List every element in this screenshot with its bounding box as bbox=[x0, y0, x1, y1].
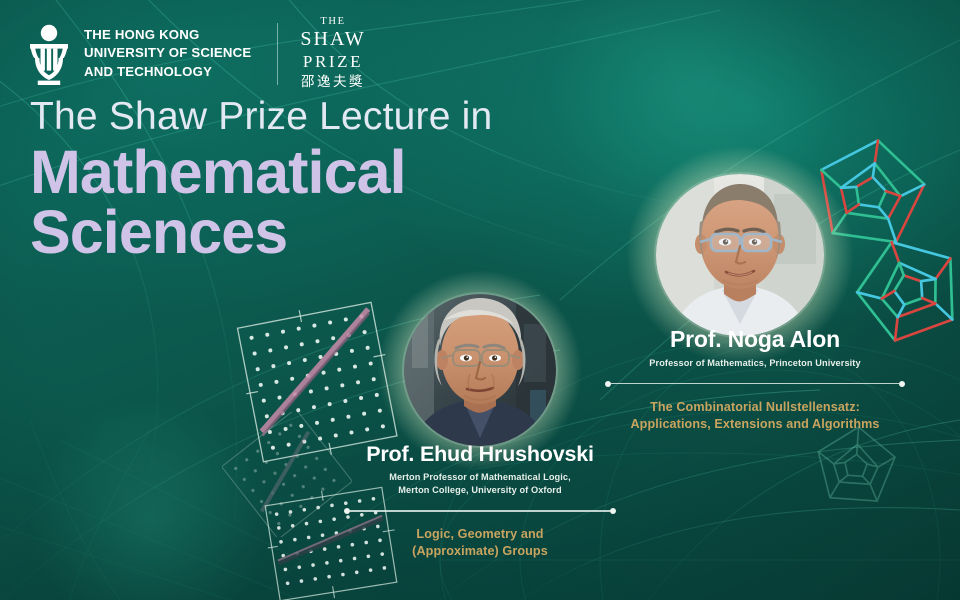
hkust-emblem-icon bbox=[26, 22, 72, 86]
lecture-topic-noga-alon: The Combinatorial Nullstellensatz: Appli… bbox=[585, 399, 925, 432]
speaker-affiliation-noga-alon: Professor of Mathematics, Princeton Univ… bbox=[585, 357, 925, 370]
logo-header: THE HONG KONG UNIVERSITY OF SCIENCE AND … bbox=[26, 16, 366, 91]
title-line-2: Mathematical bbox=[30, 143, 492, 203]
page-title: The Shaw Prize Lecture in Mathematical S… bbox=[30, 96, 492, 263]
speaker-block-ehud-hrushovski: Prof. Ehud Hrushovski Merton Professor o… bbox=[325, 442, 635, 559]
lecture-topic-ehud-hrushovski: Logic, Geometry and (Approximate) Groups bbox=[325, 526, 635, 559]
shaw-chinese: 邵逸夫獎 bbox=[300, 73, 365, 91]
portrait-noga-alon bbox=[640, 160, 840, 350]
portrait-image-noga-alon bbox=[656, 174, 824, 336]
noga-alon-photo bbox=[656, 174, 824, 336]
speaker-divider-rule bbox=[605, 379, 905, 388]
speaker-affiliation-ehud-hrushovski: Merton Professor of Mathematical Logic, … bbox=[325, 471, 635, 497]
rule-dot-right bbox=[899, 381, 905, 387]
shaw-shaw: SHAW bbox=[300, 28, 365, 52]
rule-bar bbox=[611, 383, 899, 384]
portrait-ehud-hrushovski bbox=[390, 282, 570, 458]
hkust-wordmark: THE HONG KONG UNIVERSITY OF SCIENCE AND … bbox=[84, 26, 251, 82]
speaker-name-ehud-hrushovski: Prof. Ehud Hrushovski bbox=[325, 442, 635, 467]
rule-bar bbox=[350, 510, 610, 511]
speaker-divider-rule bbox=[344, 506, 616, 515]
affiliation-line-1: Merton Professor of Mathematical Logic, bbox=[325, 471, 635, 484]
hkust-logo: THE HONG KONG UNIVERSITY OF SCIENCE AND … bbox=[26, 22, 251, 86]
topic-line-2: Applications, Extensions and Algorithms bbox=[585, 416, 925, 433]
speaker-name-noga-alon: Prof. Noga Alon bbox=[585, 326, 925, 353]
affiliation-line-2: Merton College, University of Oxford bbox=[325, 484, 635, 497]
shaw-prize-lecture-poster: THE HONG KONG UNIVERSITY OF SCIENCE AND … bbox=[0, 0, 960, 600]
shaw-the: THE bbox=[300, 16, 365, 28]
title-line-1: The Shaw Prize Lecture in bbox=[30, 96, 492, 137]
title-line-3: Sciences bbox=[30, 203, 492, 263]
rule-dot-right bbox=[610, 508, 616, 514]
logo-divider bbox=[277, 23, 278, 85]
topic-line-1: The Combinatorial Nullstellensatz: bbox=[585, 399, 925, 416]
speaker-block-noga-alon: Prof. Noga Alon Professor of Mathematics… bbox=[585, 326, 925, 432]
portrait-image-ehud-hrushovski bbox=[404, 294, 556, 446]
topic-line-2: (Approximate) Groups bbox=[325, 543, 635, 560]
hkust-line-3: AND TECHNOLOGY bbox=[84, 63, 251, 82]
topic-line-1: Logic, Geometry and bbox=[325, 526, 635, 543]
shaw-prize-logo: THE SHAW PRIZE 邵逸夫獎 bbox=[300, 16, 365, 91]
shaw-prize: PRIZE bbox=[300, 52, 365, 72]
ehud-hrushovski-photo bbox=[404, 294, 556, 446]
hkust-line-2: UNIVERSITY OF SCIENCE bbox=[84, 44, 251, 63]
hkust-line-1: THE HONG KONG bbox=[84, 26, 251, 45]
